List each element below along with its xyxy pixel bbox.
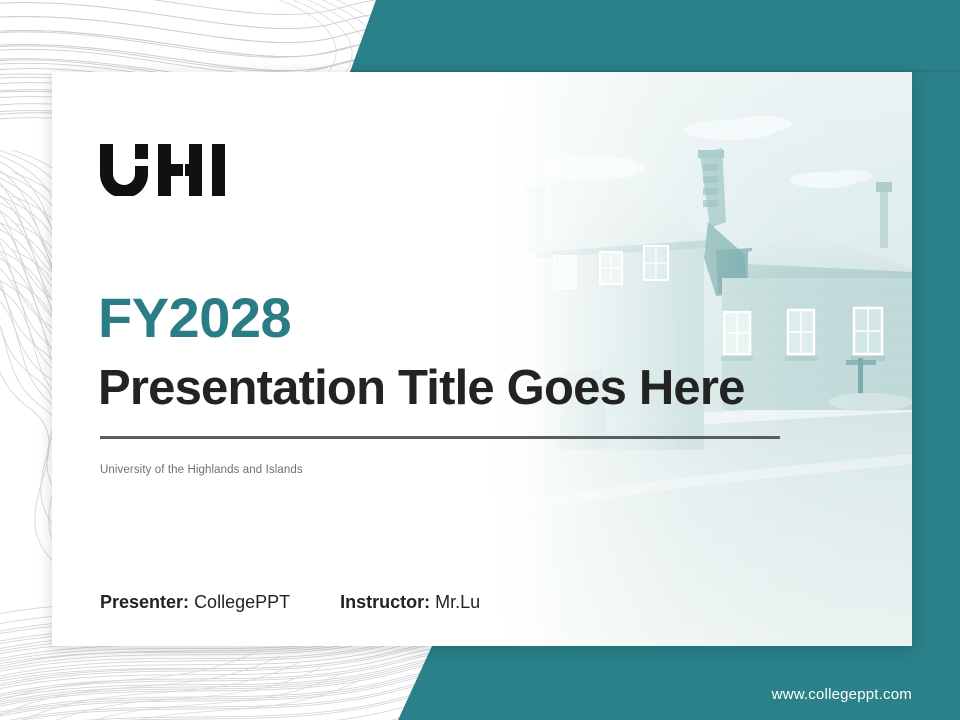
slide-card: FY2028 Presentation Title Goes Here Univ… xyxy=(52,72,912,646)
page-title: Presentation Title Goes Here xyxy=(98,364,745,413)
card-content: FY2028 Presentation Title Goes Here Univ… xyxy=(52,72,912,646)
instructor-value: Mr.Lu xyxy=(435,592,480,612)
presenter-value: CollegePPT xyxy=(194,592,290,612)
title-divider xyxy=(100,436,780,439)
fiscal-year-heading: FY2028 xyxy=(98,290,291,346)
footer-website-url[interactable]: www.collegeppt.com xyxy=(772,686,912,703)
presentation-slide: FY2028 Presentation Title Goes Here Univ… xyxy=(0,0,960,720)
university-name: University of the Highlands and Islands xyxy=(100,464,303,476)
uhi-logo xyxy=(100,144,226,196)
presenter-label: Presenter: xyxy=(100,592,189,612)
instructor-label: Instructor: xyxy=(340,592,430,612)
instructor-group: Instructor: Mr.Lu xyxy=(340,592,480,613)
credits-line: Presenter: CollegePPT Instructor: Mr.Lu xyxy=(100,592,480,613)
presenter-group: Presenter: CollegePPT xyxy=(100,592,290,613)
